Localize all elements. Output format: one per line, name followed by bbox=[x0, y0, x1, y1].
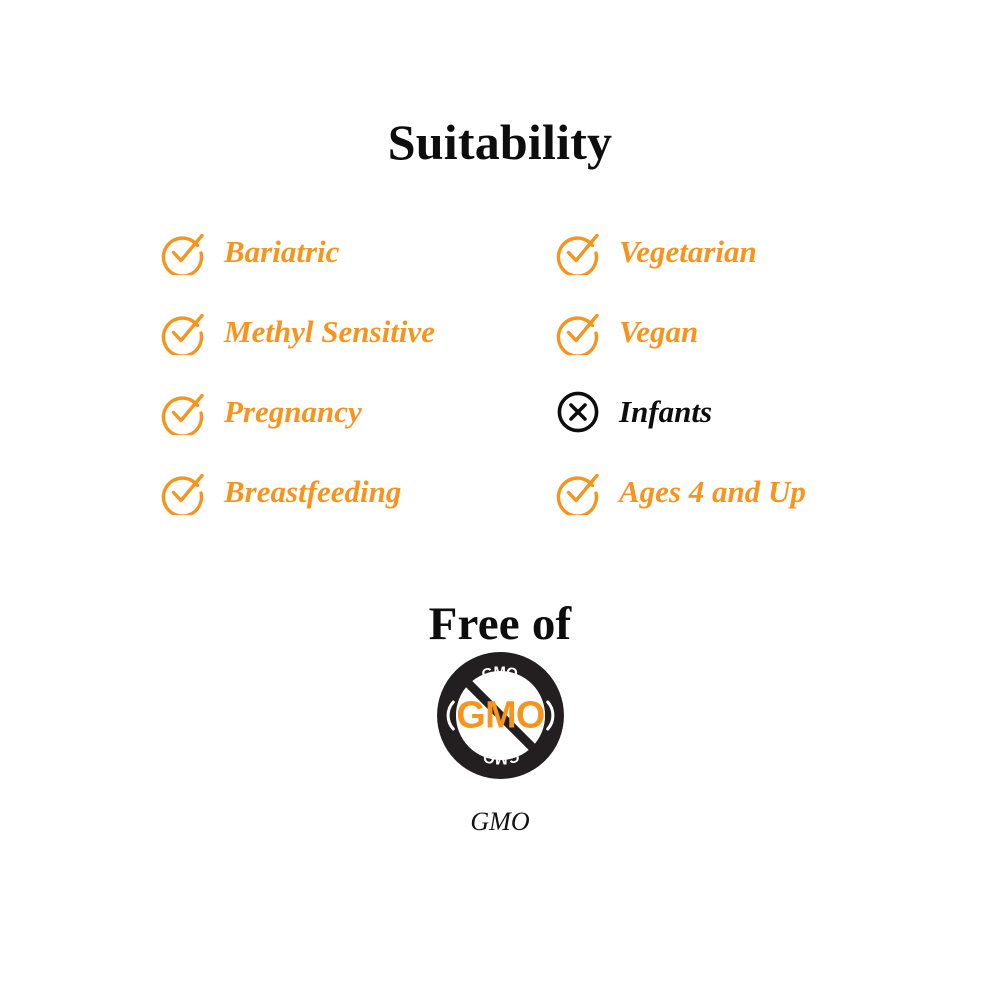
suitability-item-label: Breastfeeding bbox=[224, 475, 401, 509]
suitability-item-label: Pregnancy bbox=[224, 395, 362, 429]
free-of-item-caption: GMO bbox=[470, 807, 529, 837]
check-circle-icon bbox=[555, 309, 601, 355]
free-of-list: GMO GMO GMO GMO bbox=[0, 648, 1000, 837]
no-gmo-badge-icon: GMO GMO GMO bbox=[433, 648, 568, 783]
suitability-panel: Suitability Bariatric Vegetarian bbox=[0, 0, 1000, 1000]
suitability-list: Bariatric Vegetarian Methyl Sensitive bbox=[160, 212, 880, 532]
suitability-item-label: Methyl Sensitive bbox=[224, 315, 435, 349]
suitability-item-infants: Infants bbox=[555, 372, 880, 452]
suitability-heading: Suitability bbox=[0, 112, 1000, 172]
suitability-item-label: Infants bbox=[619, 395, 712, 429]
free-of-heading: Free of bbox=[0, 595, 1000, 653]
free-of-item-gmo: GMO GMO GMO GMO bbox=[410, 648, 590, 837]
suitability-item-vegetarian: Vegetarian bbox=[555, 212, 880, 292]
svg-text:GMO: GMO bbox=[480, 747, 521, 766]
check-circle-icon bbox=[160, 309, 206, 355]
suitability-item-vegan: Vegan bbox=[555, 292, 880, 372]
check-circle-icon bbox=[160, 229, 206, 275]
suitability-item-label: Ages 4 and Up bbox=[619, 475, 806, 509]
check-circle-icon bbox=[555, 229, 601, 275]
suitability-item-ages-4-and-up: Ages 4 and Up bbox=[555, 452, 880, 532]
svg-text:GMO: GMO bbox=[456, 695, 544, 737]
suitability-item-label: Bariatric bbox=[224, 235, 339, 269]
x-circle-icon bbox=[555, 389, 601, 435]
suitability-item-bariatric: Bariatric bbox=[160, 212, 555, 292]
suitability-item-label: Vegetarian bbox=[619, 235, 757, 269]
suitability-item-pregnancy: Pregnancy bbox=[160, 372, 555, 452]
suitability-item-label: Vegan bbox=[619, 315, 698, 349]
check-circle-icon bbox=[160, 389, 206, 435]
suitability-item-methyl-sensitive: Methyl Sensitive bbox=[160, 292, 555, 372]
check-circle-icon bbox=[555, 469, 601, 515]
suitability-item-breastfeeding: Breastfeeding bbox=[160, 452, 555, 532]
svg-text:GMO: GMO bbox=[480, 664, 521, 683]
check-circle-icon bbox=[160, 469, 206, 515]
